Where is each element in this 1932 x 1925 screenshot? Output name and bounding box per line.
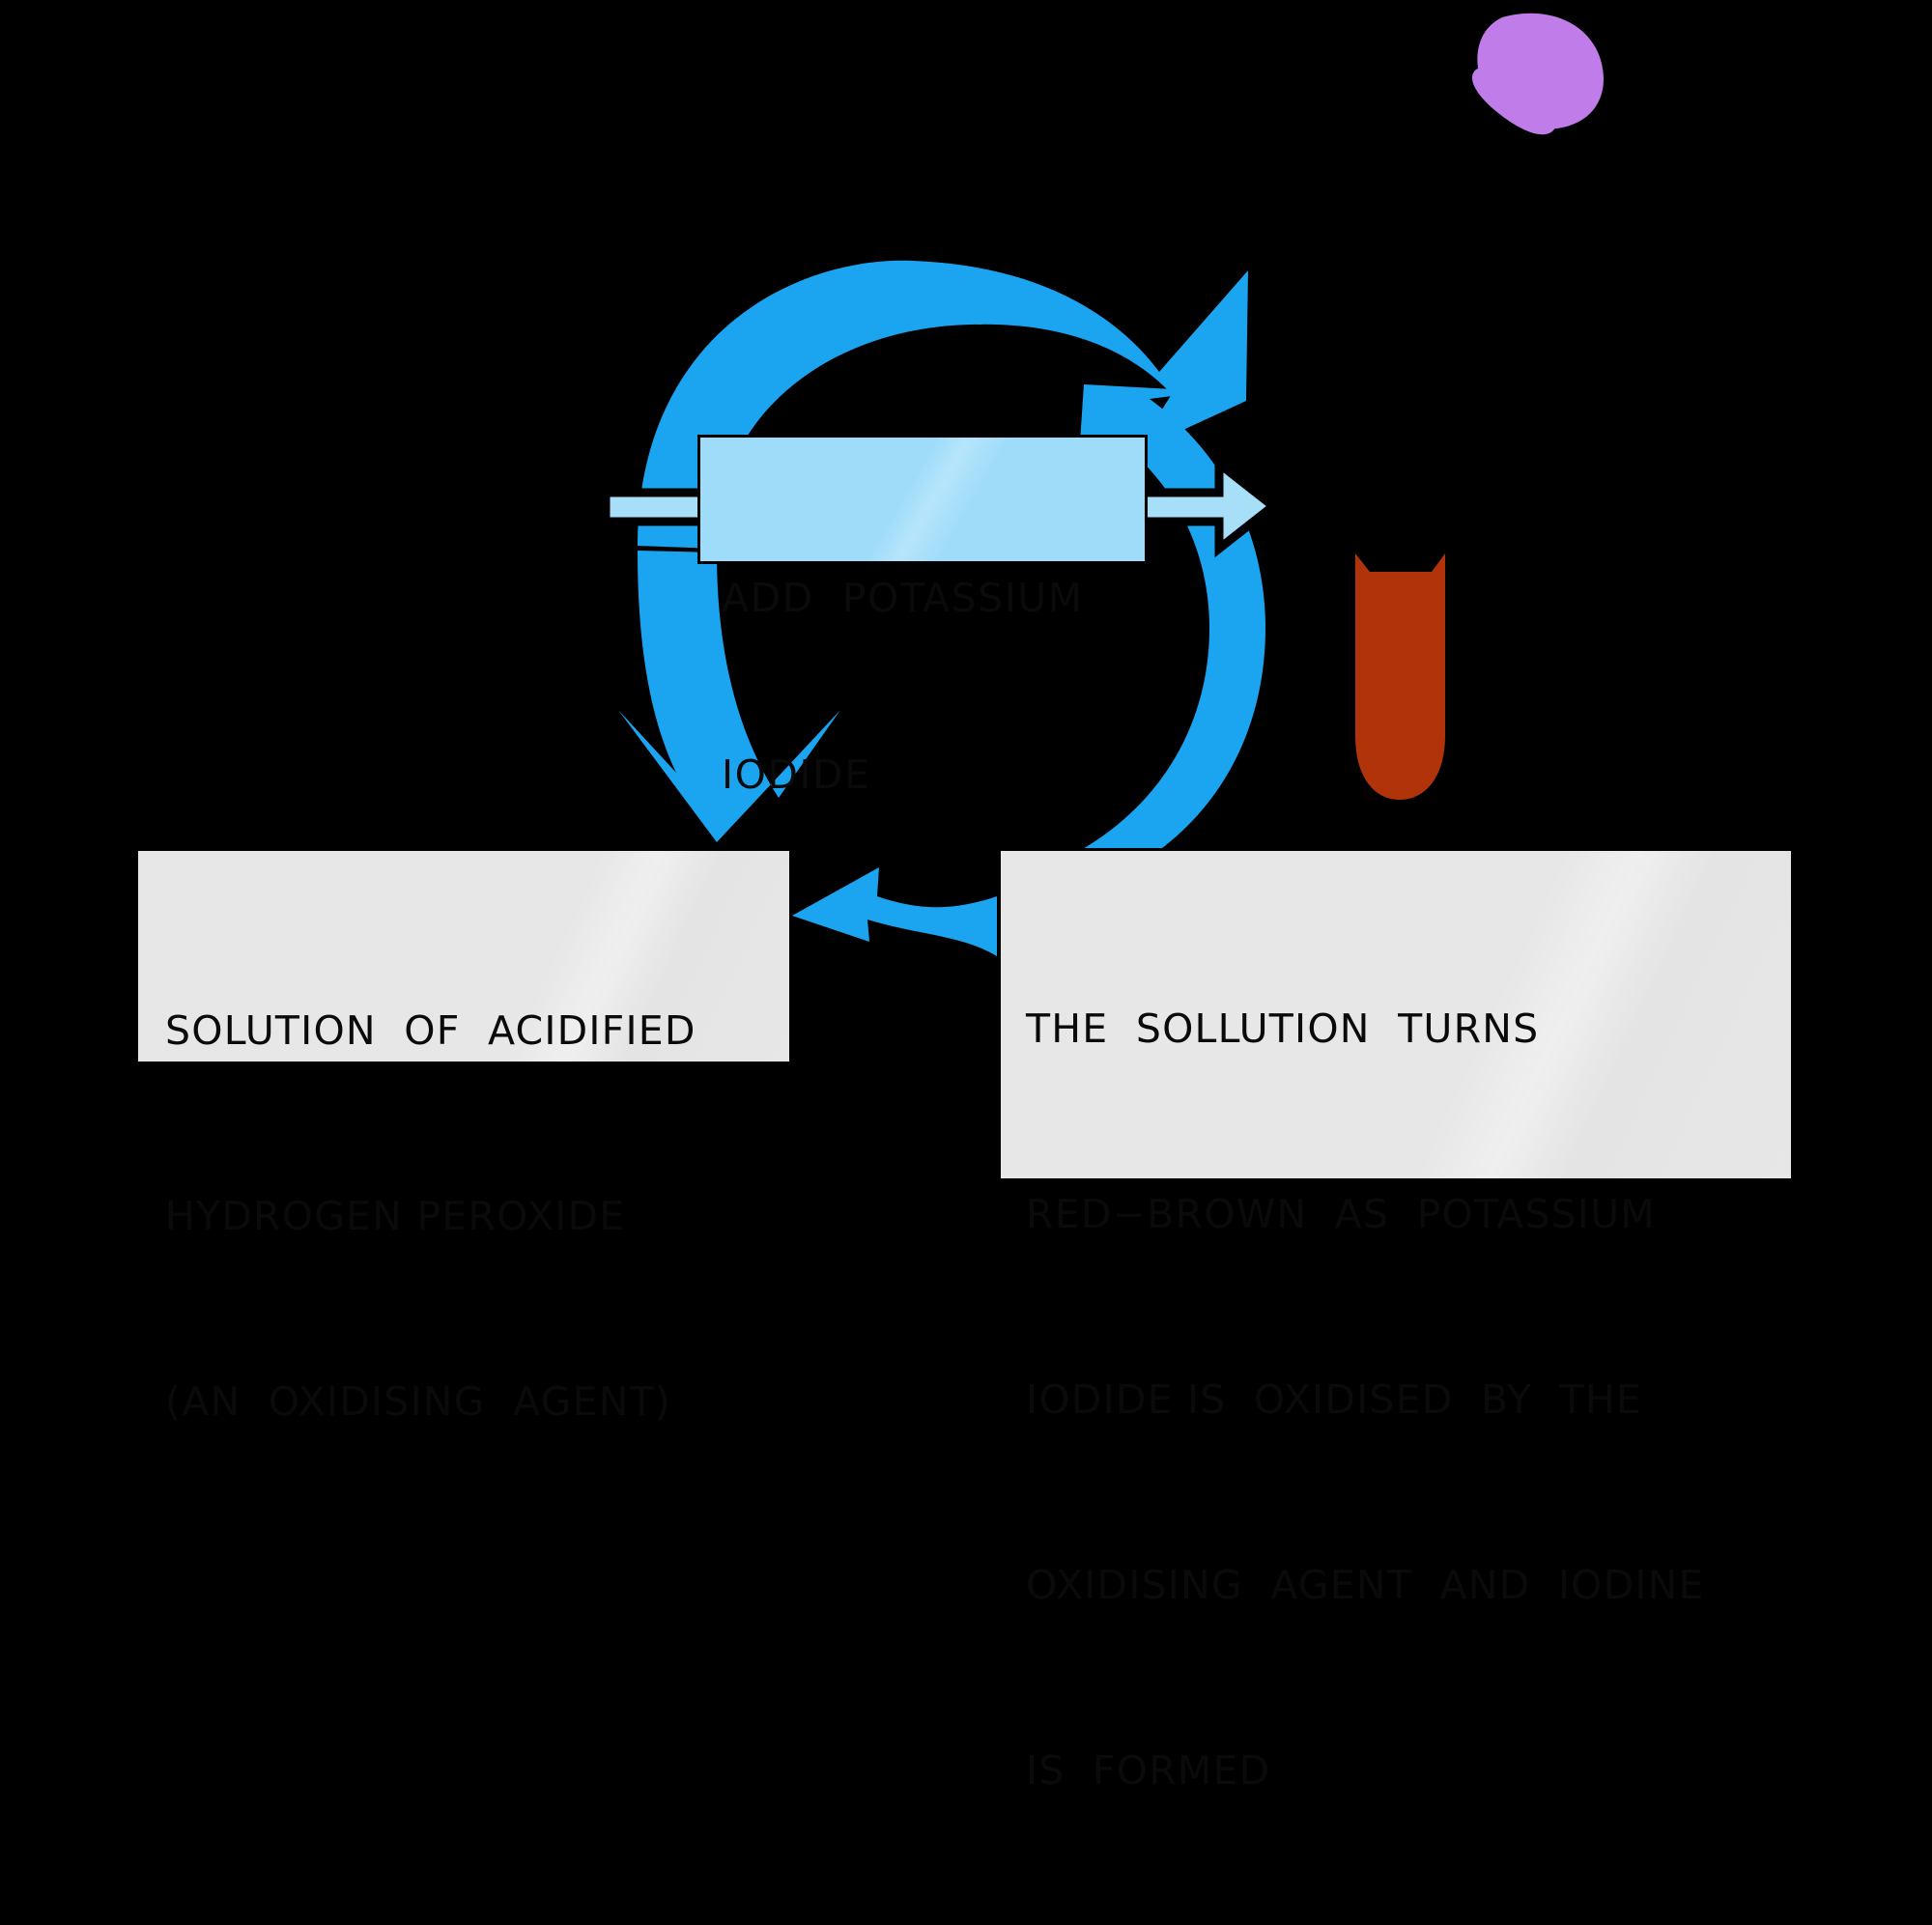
reactant-line-2: HYDROGEN PEROXIDE (165, 1185, 789, 1247)
diagram-canvas: ADD POTASSIUM IODIDE SOLUTION OF ACIDIFI… (0, 0, 1932, 1231)
test-tube-icon (1355, 553, 1445, 800)
result-line-2: RED−BROWN AS POTASSIUM (1026, 1183, 1791, 1245)
process-step-line-2: IODIDE (722, 746, 1145, 805)
process-step-line-1: ADD POTASSIUM (722, 569, 1145, 628)
result-line-3: IODIDE IS OXIDISED BY THE (1026, 1369, 1791, 1430)
result-line-5: IS FORMED (1026, 1740, 1791, 1801)
reactant-description-box[interactable]: SOLUTION OF ACIDIFIED HYDROGEN PEROXIDE … (135, 848, 792, 1064)
process-step-box[interactable]: ADD POTASSIUM IODIDE (697, 435, 1148, 564)
reactant-line-1: SOLUTION OF ACIDIFIED (165, 1000, 789, 1062)
result-description-box[interactable]: THE SOLLUTION TURNS RED−BROWN AS POTASSI… (998, 848, 1794, 1181)
result-line-4: OXIDISING AGENT AND IODINE (1026, 1554, 1791, 1616)
reactant-line-3: (AN OXIDISING AGENT) (165, 1371, 789, 1432)
result-line-1: THE SOLLUTION TURNS (1026, 998, 1791, 1060)
pipette-bulb-icon (1472, 14, 1604, 135)
